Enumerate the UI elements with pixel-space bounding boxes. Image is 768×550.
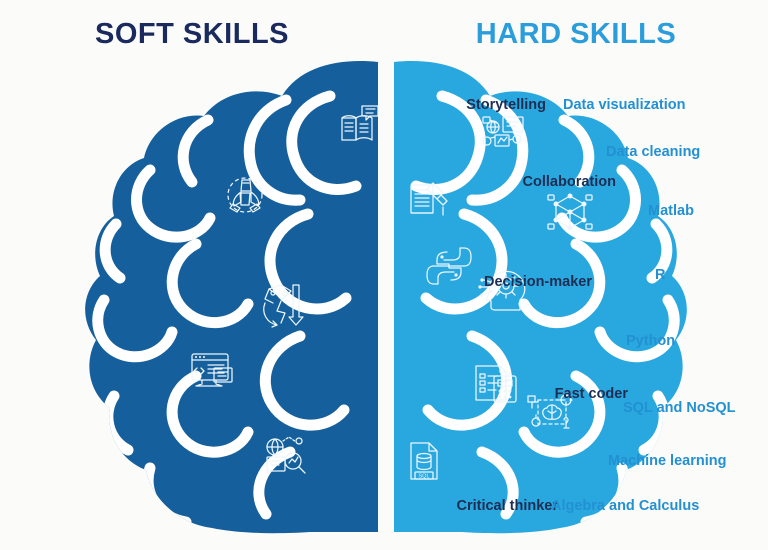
soft-skill-label: Storytelling xyxy=(466,97,546,113)
right-hemisphere-title: HARD SKILLS xyxy=(384,18,768,51)
hard-skill-label: SQL and NoSQL xyxy=(623,400,736,416)
hard-skill-label: Algebra and Calculus xyxy=(551,498,699,514)
soft-skill-label: Collaboration xyxy=(523,174,616,190)
svg-text:SQL: SQL xyxy=(418,474,429,480)
soft-skill-label: Fast coder xyxy=(555,386,628,402)
soft-skill-label: Decision-maker xyxy=(484,274,592,290)
hard-skill-label: Data visualization xyxy=(563,97,685,113)
infographic-canvas: SQL SOFT SKILLS HARD SKILLS Storytelling… xyxy=(0,0,768,550)
hard-skill-label: Data cleaning xyxy=(606,144,700,160)
soft-skill-label: Critical thinker xyxy=(456,498,558,514)
left-hemisphere xyxy=(85,61,378,533)
hard-skill-label: R xyxy=(655,267,665,283)
hard-skill-label: Machine learning xyxy=(608,453,726,469)
left-hemisphere-title: SOFT SKILLS xyxy=(0,18,384,51)
hard-skill-label: Matlab xyxy=(648,203,694,219)
hard-skill-label: Python xyxy=(626,333,675,349)
